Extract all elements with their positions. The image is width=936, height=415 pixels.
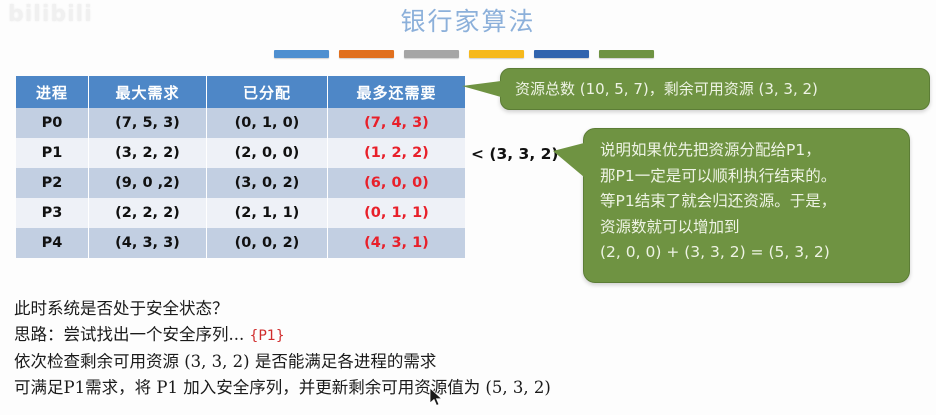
cell-max: (3, 2, 2) xyxy=(89,138,207,168)
cell-max: (2, 2, 2) xyxy=(89,198,207,228)
cell-max: (9, 0 ,2) xyxy=(89,168,207,198)
callout-resource-total: 资源总数 (10, 5, 7)，剩余可用资源 (3, 3, 2) xyxy=(500,68,930,110)
decor-bar-5 xyxy=(534,50,589,58)
callout-text: 说明如果优先把资源分配给P1， 那P1一定是可以顺利执行结束的。 等P1结束了就… xyxy=(584,129,909,266)
column-header-need: 最多还需要 xyxy=(328,76,466,108)
slide-canvas: bilibili 银行家算法 进程 最大需求 已分配 最多还需要 P0 (7, … xyxy=(0,0,936,415)
column-header-max-demand: 最大需求 xyxy=(89,76,207,108)
table-row: P0 (7, 5, 3) (0, 1, 0) (7, 4, 3) xyxy=(16,108,465,138)
comparison-note: < (3, 3, 2) xyxy=(471,145,558,163)
explanation-line-2-main: 思路：尝试找出一个安全序列... xyxy=(14,325,249,344)
decorative-color-bars xyxy=(274,50,664,59)
decor-bar-3 xyxy=(404,50,459,58)
table-row: P1 (3, 2, 2) (2, 0, 0) (1, 2, 2) xyxy=(16,138,465,168)
cell-process: P2 xyxy=(16,168,89,198)
decor-bar-1 xyxy=(274,50,329,58)
table-row: P3 (2, 2, 2) (2, 1, 1) (0, 1, 1) xyxy=(16,198,465,228)
explanation-line-2: 思路：尝试找出一个安全序列... {P1} xyxy=(14,322,924,350)
cell-process: P1 xyxy=(16,138,89,168)
table-header-row: 进程 最大需求 已分配 最多还需要 xyxy=(16,76,465,108)
cell-allocated: (2, 1, 1) xyxy=(207,198,328,228)
table-row: P2 (9, 0 ,2) (3, 0, 2) (6, 0, 0) xyxy=(16,168,465,198)
cell-need: (1, 2, 2) xyxy=(328,138,466,168)
decor-bar-6 xyxy=(599,50,654,58)
column-header-allocated: 已分配 xyxy=(207,76,328,108)
explanation-text-block: 此时系统是否处于安全状态？ 思路：尝试找出一个安全序列... {P1} 依次检查… xyxy=(14,296,924,400)
explanation-line-4: 可满足P1需求，将 P1 加入安全序列，并更新剩余可用资源值为 (5, 3, 2… xyxy=(14,375,924,401)
callout-text: 资源总数 (10, 5, 7)，剩余可用资源 (3, 3, 2) xyxy=(501,69,929,100)
callout-p1-explanation: 说明如果优先把资源分配给P1， 那P1一定是可以顺利执行结束的。 等P1结束了就… xyxy=(583,128,910,283)
explanation-line-1: 此时系统是否处于安全状态？ xyxy=(14,296,924,322)
cell-need: (4, 3, 1) xyxy=(328,228,466,258)
cell-allocated: (0, 1, 0) xyxy=(207,108,328,138)
cell-max: (4, 3, 3) xyxy=(89,228,207,258)
cell-allocated: (0, 0, 2) xyxy=(207,228,328,258)
cell-process: P3 xyxy=(16,198,89,228)
table-row: P4 (4, 3, 3) (0, 0, 2) (4, 3, 1) xyxy=(16,228,465,258)
safe-sequence-highlight: {P1} xyxy=(249,328,284,344)
mouse-cursor-icon xyxy=(430,388,444,408)
decor-bar-2 xyxy=(339,50,394,58)
column-header-process: 进程 xyxy=(16,76,89,108)
cell-need: (0, 1, 1) xyxy=(328,198,466,228)
callout-tail-icon xyxy=(462,81,501,97)
callout-tail-icon xyxy=(553,143,584,177)
decor-bar-4 xyxy=(469,50,524,58)
cell-process: P0 xyxy=(16,108,89,138)
banker-algorithm-table: 进程 最大需求 已分配 最多还需要 P0 (7, 5, 3) (0, 1, 0)… xyxy=(16,76,465,258)
cell-need: (6, 0, 0) xyxy=(328,168,466,198)
explanation-line-3: 依次检查剩余可用资源 (3, 3, 2) 是否能满足各进程的需求 xyxy=(14,349,924,375)
page-title: 银行家算法 xyxy=(0,2,936,38)
cell-max: (7, 5, 3) xyxy=(89,108,207,138)
cell-allocated: (3, 0, 2) xyxy=(207,168,328,198)
cell-allocated: (2, 0, 0) xyxy=(207,138,328,168)
cell-process: P4 xyxy=(16,228,89,258)
cell-need: (7, 4, 3) xyxy=(328,108,466,138)
